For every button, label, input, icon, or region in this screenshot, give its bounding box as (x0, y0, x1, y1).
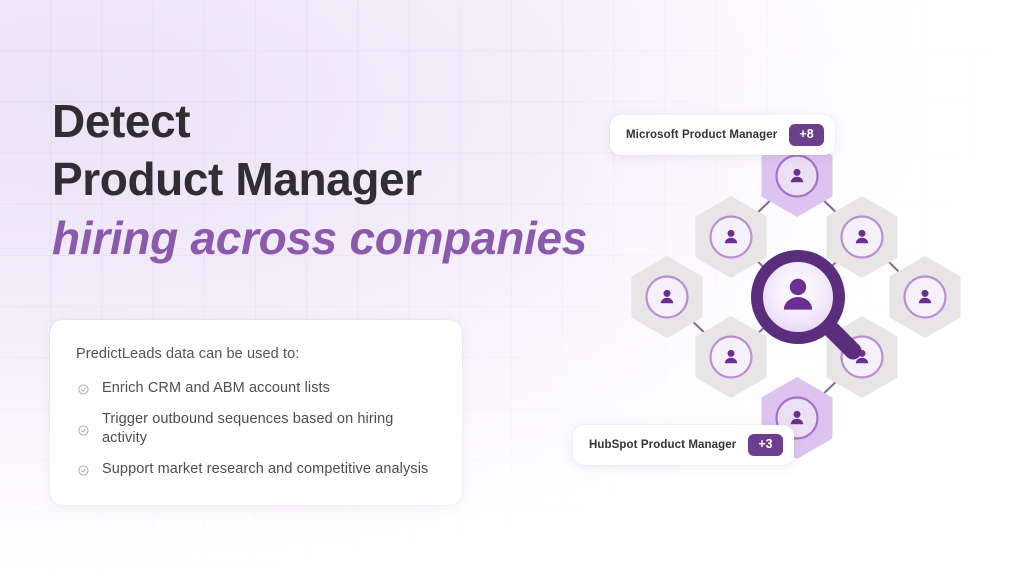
list-item-label: Trigger outbound sequences based on hiri… (102, 410, 436, 448)
list-item-label: Enrich CRM and ABM account lists (102, 379, 330, 398)
headline-line-2: Product Manager (52, 150, 612, 208)
network-node-lower-left[interactable] (696, 316, 767, 398)
network-node-left[interactable] (632, 256, 703, 338)
label-count-badge: +3 (748, 434, 782, 456)
headline-accent-line: hiring across companies (52, 208, 612, 268)
check-circle-icon (78, 424, 89, 435)
info-card-intro: PredictLeads data can be used to: (76, 344, 436, 364)
magnifier-person-icon[interactable] (757, 256, 853, 351)
list-item: Support market research and competitive … (76, 460, 436, 479)
list-item-label: Support market research and competitive … (102, 460, 428, 479)
network-node-upper-right[interactable] (827, 196, 898, 278)
label-count-badge: +8 (789, 124, 823, 146)
check-circle-icon (78, 383, 89, 394)
headline-block: Detect Product Manager hiring across com… (52, 92, 612, 268)
info-card: PredictLeads data can be used to: Enrich… (50, 320, 462, 505)
list-item: Trigger outbound sequences based on hiri… (76, 410, 436, 448)
headline-line-1: Detect (52, 92, 612, 150)
label-text: HubSpot Product Manager (589, 439, 736, 451)
check-circle-icon (78, 464, 89, 475)
promo-graphic-canvas: Detect Product Manager hiring across com… (0, 0, 1024, 576)
info-card-list: Enrich CRM and ABM account lists Trigger… (76, 379, 436, 479)
list-item: Enrich CRM and ABM account lists (76, 379, 436, 398)
label-microsoft-product-manager[interactable]: Microsoft Product Manager +8 (610, 115, 835, 155)
label-hubspot-product-manager[interactable]: HubSpot Product Manager +3 (573, 425, 794, 465)
network-node-upper-left[interactable] (696, 196, 767, 278)
label-text: Microsoft Product Manager (626, 129, 777, 141)
network-node-right[interactable] (890, 256, 961, 338)
